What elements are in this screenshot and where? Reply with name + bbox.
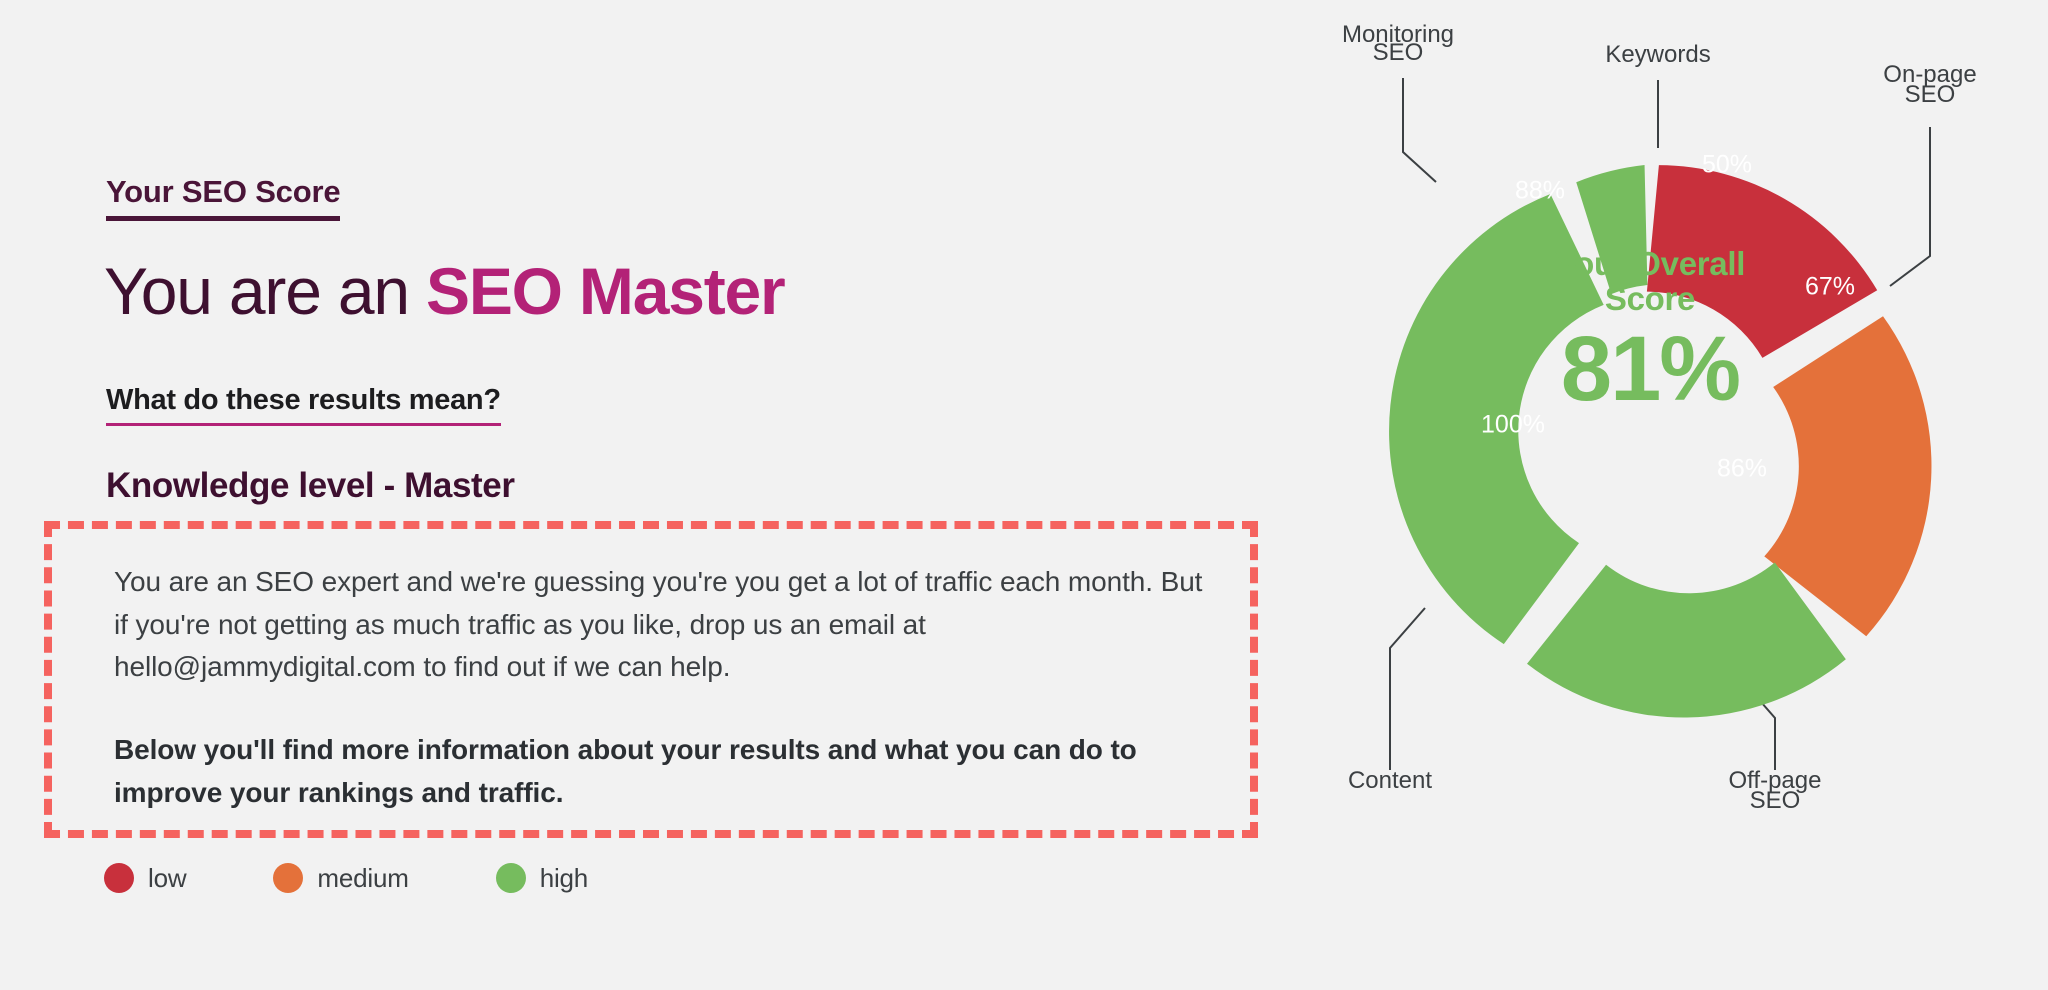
category-label-on-page-seo-line-2: SEO [1905,81,1956,108]
category-label-content: Content [1348,767,1432,794]
legend-label-high: high [540,865,588,891]
category-label-keywords: Keywords [1605,41,1710,68]
category-label-monitoring-seo-line-2: SEO [1373,39,1424,66]
results-summary-panel: Your SEO Score You are an SEO Master Wha… [0,0,1310,990]
legend-dot-medium-icon [273,863,303,893]
headline-prefix: You are an [104,254,426,328]
headline-accent: SEO Master [426,254,784,328]
callout-paragraph-bold: Below you'll find more information about… [114,729,1204,814]
donut-segment-off-page-seo[interactable] [1527,562,1846,717]
donut-center-label: Your Overall Score 81% [1555,245,1745,420]
knowledge-level-heading: Knowledge level - Master [106,467,515,506]
callout-paragraph: You are an SEO expert and we're guessing… [114,561,1214,689]
legend-item-medium: medium [273,863,408,893]
legend-item-high: high [496,863,588,893]
leader-line-on-page-seo [1890,127,1930,286]
page-title: You are an SEO Master [104,255,784,329]
leader-line-monitoring-seo [1403,78,1436,182]
legend-label-low: low [148,865,186,891]
seo-score-donut-chart: 50% 67% 86% 100% 88% Your Overall Score … [1310,0,2048,990]
score-legend: low medium high [104,863,588,893]
category-label-off-page-seo-line-2: SEO [1750,787,1801,814]
segment-value-content: 100% [1481,411,1545,439]
legend-label-medium: medium [317,865,408,891]
segment-value-monitoring-seo: 88% [1515,177,1565,205]
leader-line-content [1390,608,1425,770]
center-title-line-1: Your Overall [1555,245,1745,282]
results-meaning-heading: What do these results mean? [106,385,501,426]
legend-item-low: low [104,863,186,893]
legend-dot-high-icon [496,863,526,893]
segment-value-off-page-seo: 86% [1717,455,1767,483]
overall-score-chart-panel: 50% 67% 86% 100% 88% Your Overall Score … [1310,0,2048,990]
center-overall-score: 81% [1561,318,1739,420]
legend-dot-low-icon [104,863,134,893]
segment-value-keywords: 50% [1702,151,1752,179]
segment-value-on-page-seo: 67% [1805,273,1855,301]
highlight-callout-box: You are an SEO expert and we're guessing… [44,521,1258,838]
center-title-line-2: Score [1605,280,1695,317]
page-eyebrow-heading: Your SEO Score [106,175,340,221]
